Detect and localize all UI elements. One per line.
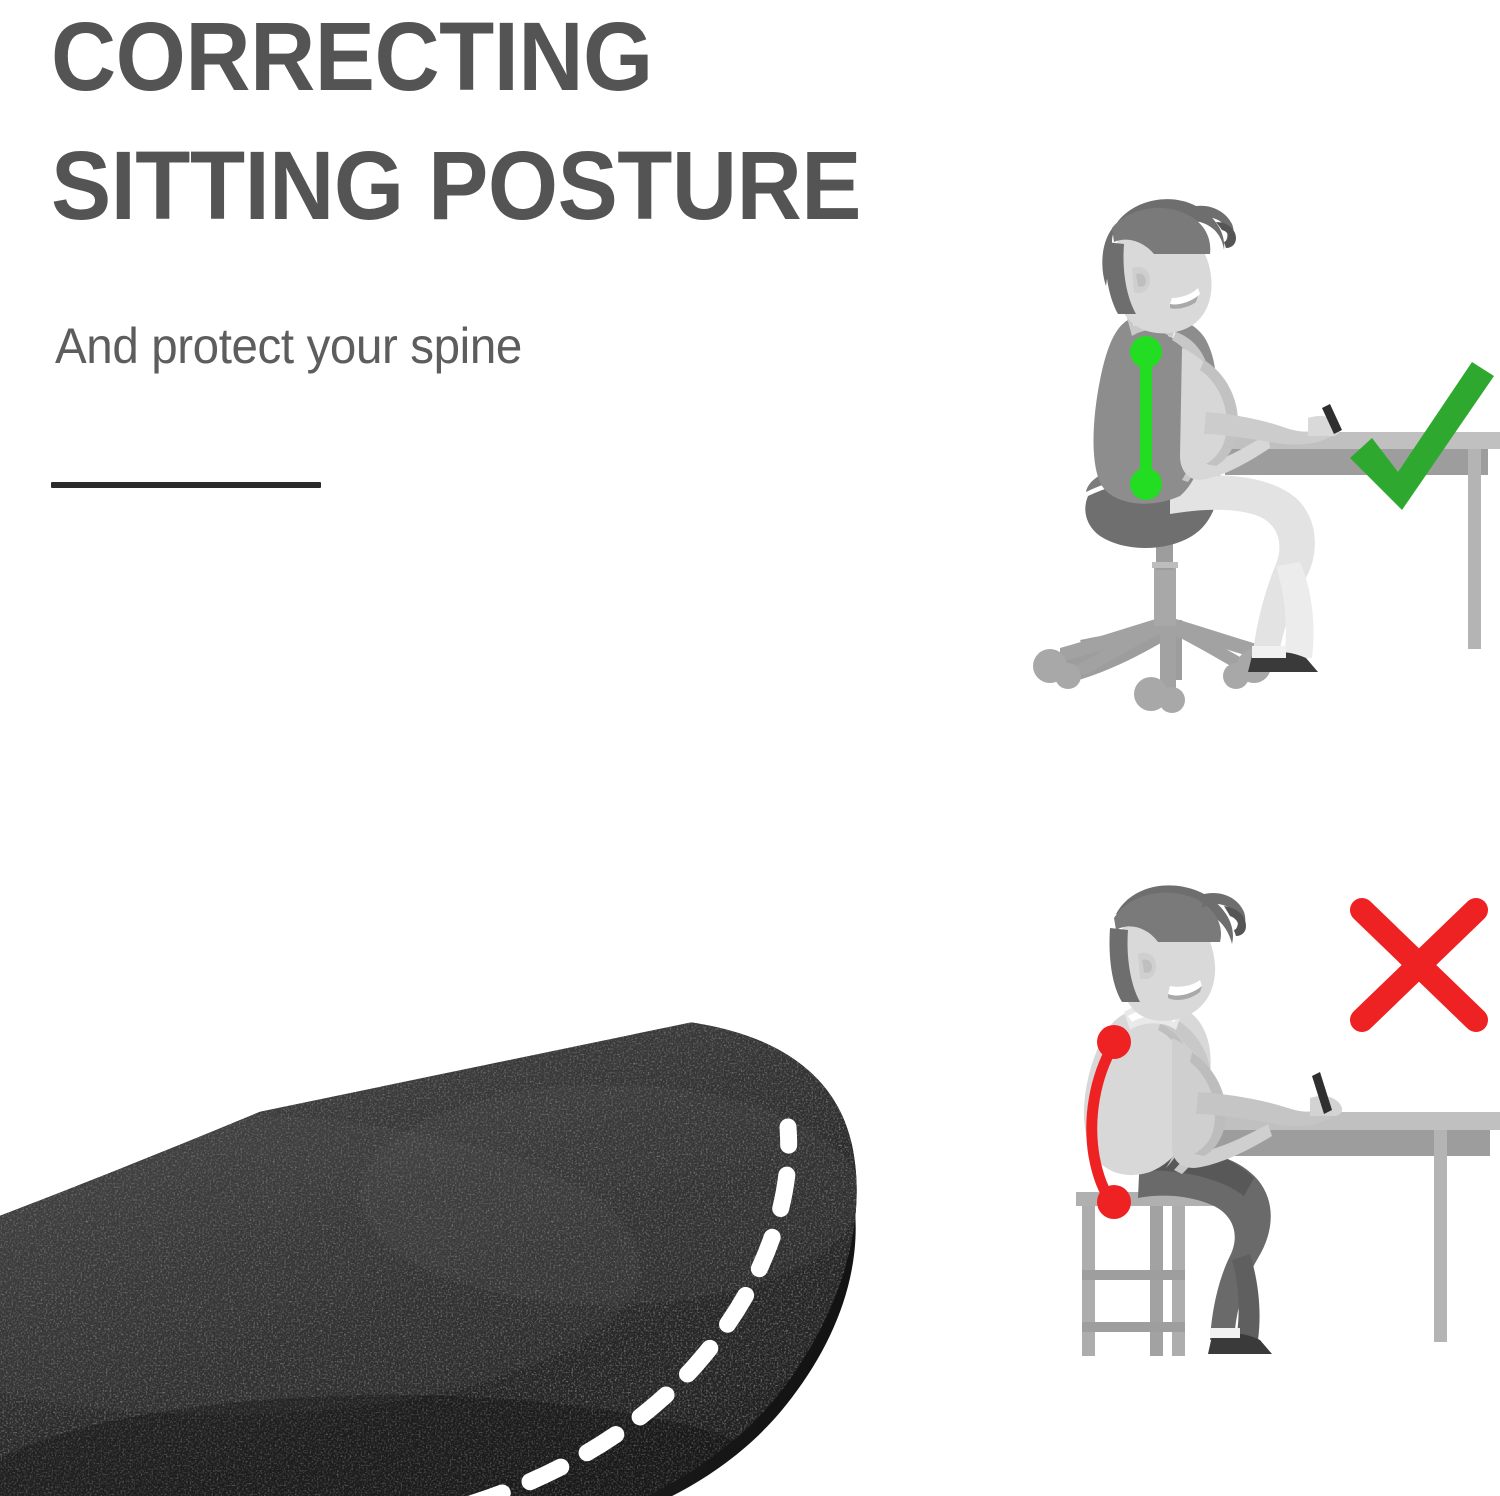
page-subtitle: And protect your spine xyxy=(55,317,522,375)
good-posture-illustration xyxy=(1020,180,1500,800)
title-divider xyxy=(51,482,321,488)
desk xyxy=(1208,432,1500,649)
head xyxy=(1102,199,1236,333)
infographic-canvas: CORRECTING SITTING POSTURE And protect y… xyxy=(0,0,1500,1496)
cross-icon xyxy=(1362,910,1476,1020)
head xyxy=(1110,885,1247,1021)
page-title: CORRECTING SITTING POSTURE xyxy=(51,0,1018,250)
bad-posture-illustration xyxy=(1020,870,1500,1490)
saddle-stitching-rear-2 xyxy=(855,1101,868,1145)
product-photo-saddle-seat xyxy=(0,505,980,1496)
office-chair-base xyxy=(1033,528,1271,713)
